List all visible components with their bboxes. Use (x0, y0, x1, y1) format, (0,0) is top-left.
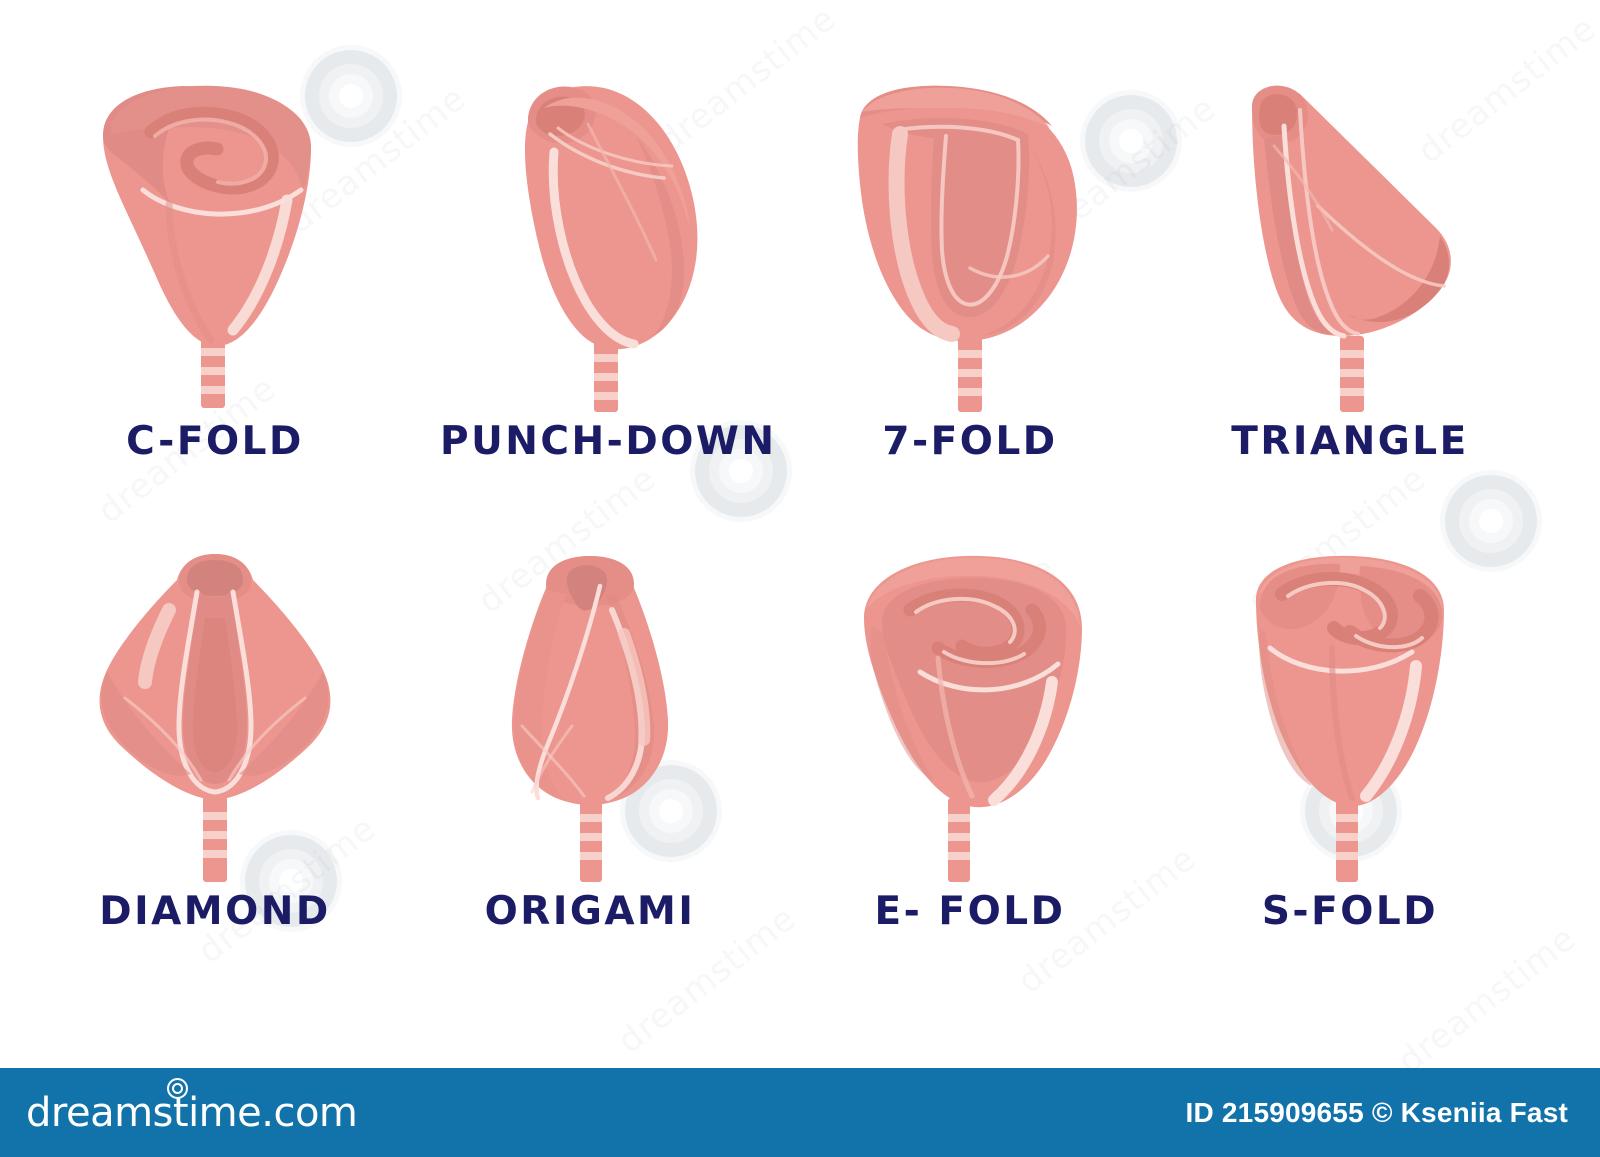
fold-card-s-fold: S-FOLD (1200, 548, 1500, 931)
dreamstime-logo-text: dreamstime.com (26, 1090, 357, 1136)
fold-grid: C-FOLD (0, 0, 1600, 1157)
menstrual-cup-diamond-fold-icon (65, 548, 365, 888)
fold-card-c-fold: C-FOLD (65, 78, 365, 461)
fold-card-origami: ORIGAMI (440, 548, 740, 931)
fold-card-triangle: TRIANGLE (1200, 78, 1500, 461)
menstrual-cup-7-fold-icon (820, 78, 1120, 418)
fold-card-punch-down: PUNCH-DOWN (440, 78, 777, 461)
fold-card-e-fold: E- FOLD (820, 548, 1120, 931)
infographic-canvas: dreamstime dreamstime dreamstime dreamst… (0, 0, 1600, 1157)
fold-label: C-FOLD (126, 422, 304, 461)
menstrual-cup-punch-down-fold-icon (458, 78, 758, 418)
fold-label: DIAMOND (99, 892, 331, 931)
stock-photo-footer-bar: dreamstime.com ID 215909655 © Kseniia Fa… (0, 1068, 1600, 1157)
menstrual-cup-triangle-fold-icon (1200, 78, 1500, 418)
menstrual-cup-c-fold-icon (65, 78, 365, 418)
fold-card-diamond: DIAMOND (65, 548, 365, 931)
dreamstime-logo[interactable]: dreamstime.com (26, 1090, 357, 1136)
fold-label: PUNCH-DOWN (440, 422, 777, 461)
menstrual-cup-origami-fold-icon (440, 548, 740, 888)
fold-label: S-FOLD (1262, 892, 1438, 931)
dreamstime-spiral-icon (167, 1078, 188, 1099)
menstrual-cup-s-fold-icon (1200, 548, 1500, 888)
fold-label: ORIGAMI (485, 892, 696, 931)
fold-label: TRIANGLE (1231, 422, 1468, 461)
fold-card-7-fold: 7-FOLD (820, 78, 1120, 461)
fold-label: E- FOLD (875, 892, 1066, 931)
menstrual-cup-e-fold-icon (820, 548, 1120, 888)
fold-label: 7-FOLD (882, 422, 1057, 461)
image-id-and-credit: ID 215909655 © Kseniia Fast (1186, 1097, 1568, 1129)
